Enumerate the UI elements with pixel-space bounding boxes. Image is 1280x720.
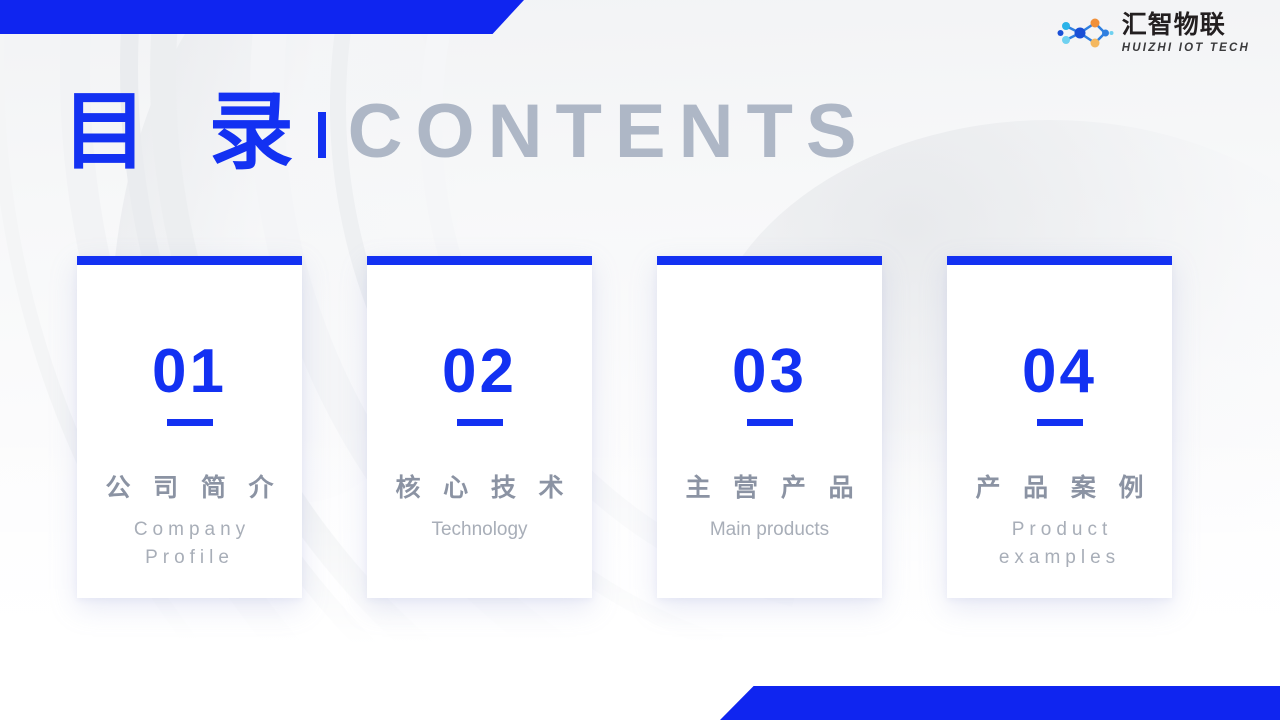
contents-card-list: 01 公 司 简 介 Company Profile 02 核 心 技 术 Te…: [77, 256, 1172, 598]
card-title-en: Technology: [421, 516, 537, 545]
brand-logo-text: 汇智物联 HUIZHI IOT TECH: [1122, 12, 1250, 55]
title-separator-bar: [318, 112, 326, 158]
card-top-accent-bar: [77, 256, 302, 265]
contents-card-02[interactable]: 02 核 心 技 术 Technology: [367, 256, 592, 598]
card-top-accent-bar: [947, 256, 1172, 265]
card-divider-rule: [747, 419, 793, 426]
card-number: 02: [442, 341, 517, 403]
card-divider-rule: [167, 419, 213, 426]
page-title-cn: 目 录: [62, 90, 310, 175]
brand-logo: 汇智物联 HUIZHI IOT TECH: [1056, 12, 1250, 55]
card-title-cn: 公 司 简 介: [98, 474, 280, 502]
card-top-accent-bar: [657, 256, 882, 265]
card-divider-rule: [1037, 419, 1083, 426]
card-title-en: Main products: [700, 516, 839, 545]
card-title-cn: 产 品 案 例: [968, 474, 1150, 502]
page-title: 目 录 CONTENTS: [62, 78, 870, 186]
brand-name-cn: 汇智物联: [1122, 12, 1250, 37]
card-title-cn: 主 营 产 品: [678, 474, 860, 502]
card-title-cn: 核 心 技 术: [388, 474, 570, 502]
page-title-en: CONTENTS: [348, 94, 870, 170]
slide-contents: 汇智物联 HUIZHI IOT TECH 目 录 CONTENTS 01 公 司…: [0, 0, 1280, 720]
contents-card-04[interactable]: 04 产 品 案 例 Product examples: [947, 256, 1172, 598]
card-number: 01: [152, 341, 227, 403]
card-title-en: Product examples: [947, 516, 1172, 573]
brand-name-en: HUIZHI IOT TECH: [1122, 43, 1250, 55]
bottom-right-blue-bar: [720, 686, 1280, 720]
contents-card-01[interactable]: 01 公 司 简 介 Company Profile: [77, 256, 302, 598]
network-nodes-icon: [1056, 13, 1114, 53]
card-top-accent-bar: [367, 256, 592, 265]
top-left-blue-bar: [0, 0, 524, 34]
card-number: 03: [732, 341, 807, 403]
card-number: 04: [1022, 341, 1097, 403]
contents-card-03[interactable]: 03 主 营 产 品 Main products: [657, 256, 882, 598]
card-divider-rule: [457, 419, 503, 426]
card-title-en: Company Profile: [77, 516, 302, 573]
